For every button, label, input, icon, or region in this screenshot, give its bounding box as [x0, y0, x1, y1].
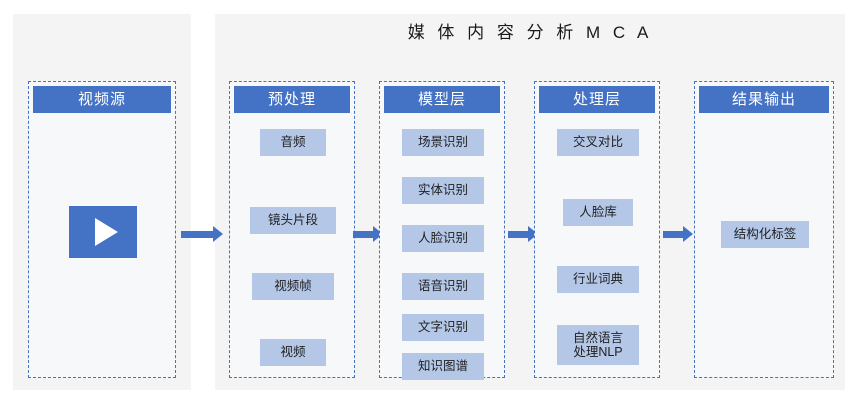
play-button-icon[interactable] — [69, 206, 137, 258]
arrow-processing-layer-to-result-output — [663, 226, 693, 242]
chip-processing-nlp[interactable]: 自然语言 处理NLP — [557, 325, 639, 365]
chip-model-face-recognition[interactable]: 人脸识别 — [402, 225, 484, 252]
chip-label: 音频 — [280, 135, 305, 149]
chip-preprocess-shot-segment[interactable]: 镜头片段 — [250, 207, 336, 234]
chip-result-structured-tags[interactable]: 结构化标签 — [721, 221, 809, 248]
stage-header-model-layer: 模型层 — [384, 86, 500, 113]
chip-label: 知识图谱 — [418, 359, 468, 373]
diagram-title: 媒 体 内 容 分 析 M C A — [215, 18, 845, 43]
stage-header-result-output: 结果输出 — [699, 86, 829, 113]
stage-header-processing-layer: 处理层 — [539, 86, 655, 113]
chip-model-entity-recognition[interactable]: 实体识别 — [402, 177, 484, 204]
chip-model-knowledge-graph[interactable]: 知识图谱 — [402, 353, 484, 380]
chip-preprocess-video[interactable]: 视频 — [260, 339, 326, 366]
chip-model-text-recognition[interactable]: 文字识别 — [402, 314, 484, 341]
stage-header-video-source: 视频源 — [33, 86, 171, 113]
stage-processing-layer[interactable]: 处理层 交叉对比 人脸库 行业词典 自然语言 处理NLP — [534, 81, 660, 378]
chip-model-speech-recognition[interactable]: 语音识别 — [402, 273, 484, 300]
stage-model-layer[interactable]: 模型层 场景识别 实体识别 人脸识别 语音识别 文字识别 知识图谱 — [379, 81, 505, 378]
chip-label: 镜头片段 — [268, 213, 318, 227]
diagram-canvas: 媒 体 内 容 分 析 M C A 视频源 预处理 音频 镜头片段 视频帧 视频 — [0, 0, 859, 411]
chip-label: 文字识别 — [418, 320, 468, 334]
chip-processing-industry-dictionary[interactable]: 行业词典 — [557, 266, 639, 293]
stage-result-output[interactable]: 结果输出 结构化标签 — [694, 81, 834, 378]
chip-label: 人脸库 — [579, 205, 617, 219]
chip-label-line2: 处理NLP — [573, 345, 622, 359]
chip-label: 人脸识别 — [418, 231, 468, 245]
chip-label: 视频帧 — [274, 279, 312, 293]
stage-video-source[interactable]: 视频源 — [28, 81, 176, 378]
stage-header-preprocess: 预处理 — [234, 86, 350, 113]
arrow-video-source-to-preprocess — [181, 226, 223, 242]
chip-label-line1: 自然语言 — [573, 331, 623, 345]
chip-label: 结构化标签 — [734, 227, 797, 241]
stage-preprocess[interactable]: 预处理 音频 镜头片段 视频帧 视频 — [229, 81, 355, 378]
chip-label: 场景识别 — [418, 135, 468, 149]
chip-label: 行业词典 — [573, 272, 623, 286]
chip-label: 实体识别 — [418, 183, 468, 197]
chip-preprocess-audio[interactable]: 音频 — [260, 129, 326, 156]
play-triangle-icon — [95, 218, 118, 246]
chip-label: 交叉对比 — [573, 135, 623, 149]
chip-model-scene-recognition[interactable]: 场景识别 — [402, 129, 484, 156]
chip-label: 语音识别 — [418, 279, 468, 293]
chip-preprocess-video-frame[interactable]: 视频帧 — [252, 273, 334, 300]
chip-processing-face-database[interactable]: 人脸库 — [563, 199, 633, 226]
chip-processing-cross-compare[interactable]: 交叉对比 — [557, 129, 639, 156]
chip-label: 视频 — [280, 345, 305, 359]
